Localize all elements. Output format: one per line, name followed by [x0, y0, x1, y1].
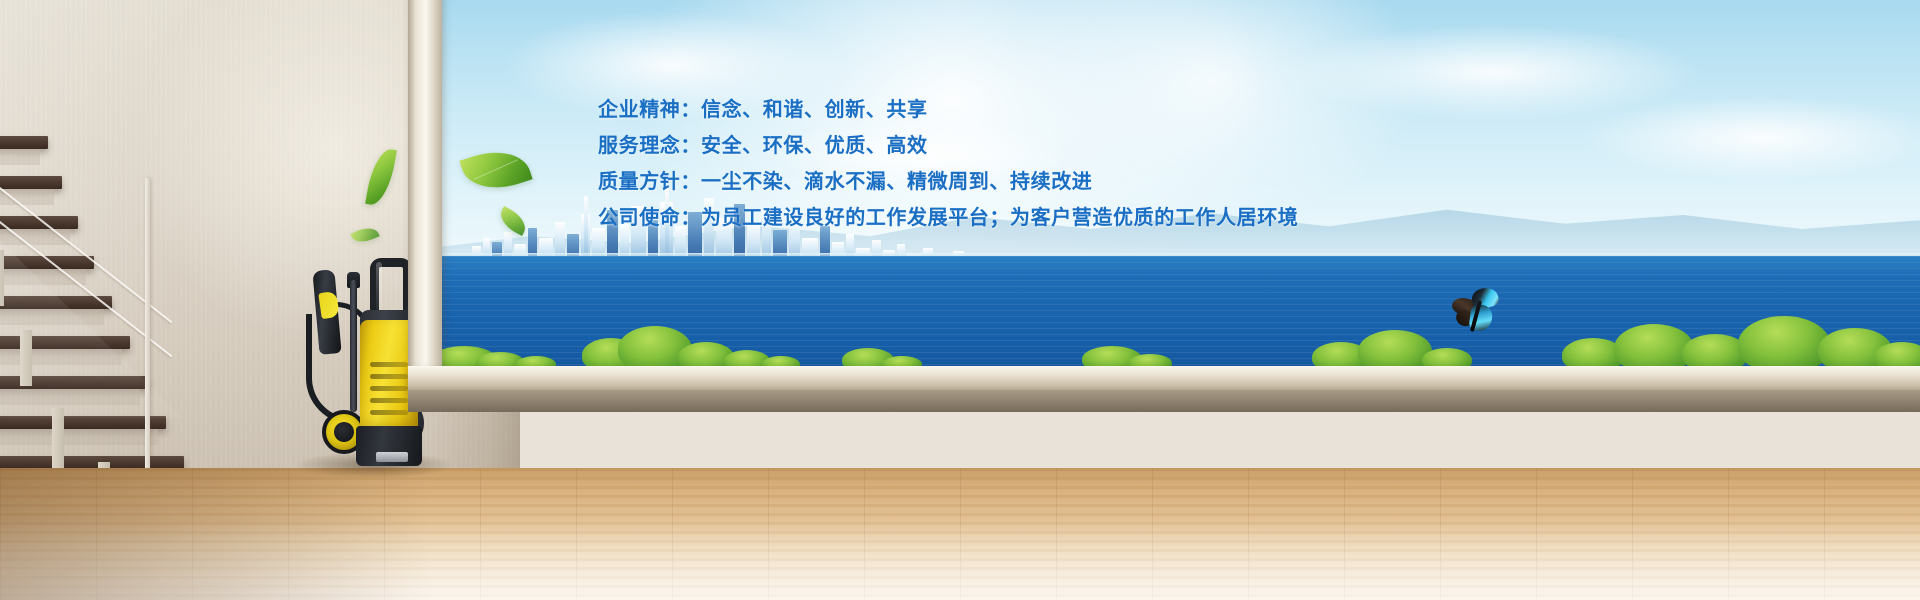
- floating-staircase: [0, 130, 205, 475]
- company-culture-banner: 企业精神：信念、和谐、创新、共享 服务理念：安全、环保、优质、高效 质量方针：一…: [0, 0, 1920, 600]
- window-baseboard: [408, 390, 1920, 412]
- washer-wheel-hub: [334, 422, 354, 442]
- cloud: [1582, 96, 1920, 180]
- spray-lance: [350, 280, 357, 412]
- slogan-line-service: 服务理念：安全、环保、优质、高效: [598, 128, 1298, 164]
- slogan-line-spirit: 企业精神：信念、和谐、创新、共享: [598, 92, 1298, 128]
- blue-butterfly: [1450, 288, 1502, 346]
- window-sill: [408, 366, 1920, 392]
- railing-post: [145, 178, 150, 478]
- slogan-line-mission: 公司使命：为员工建设良好的工作发展平台；为客户营造优质的工作人居环境: [598, 200, 1298, 236]
- window-frame-left: [408, 0, 442, 386]
- company-culture-slogan: 企业精神：信念、和谐、创新、共享 服务理念：安全、环保、优质、高效 质量方针：一…: [598, 92, 1298, 236]
- washer-base-plate: [376, 452, 408, 462]
- floor-shadow-left: [0, 468, 430, 600]
- green-bushes: [442, 300, 1920, 368]
- slogan-line-quality: 质量方针：一尘不染、滴水不漏、精微周到、持续改进: [598, 164, 1298, 200]
